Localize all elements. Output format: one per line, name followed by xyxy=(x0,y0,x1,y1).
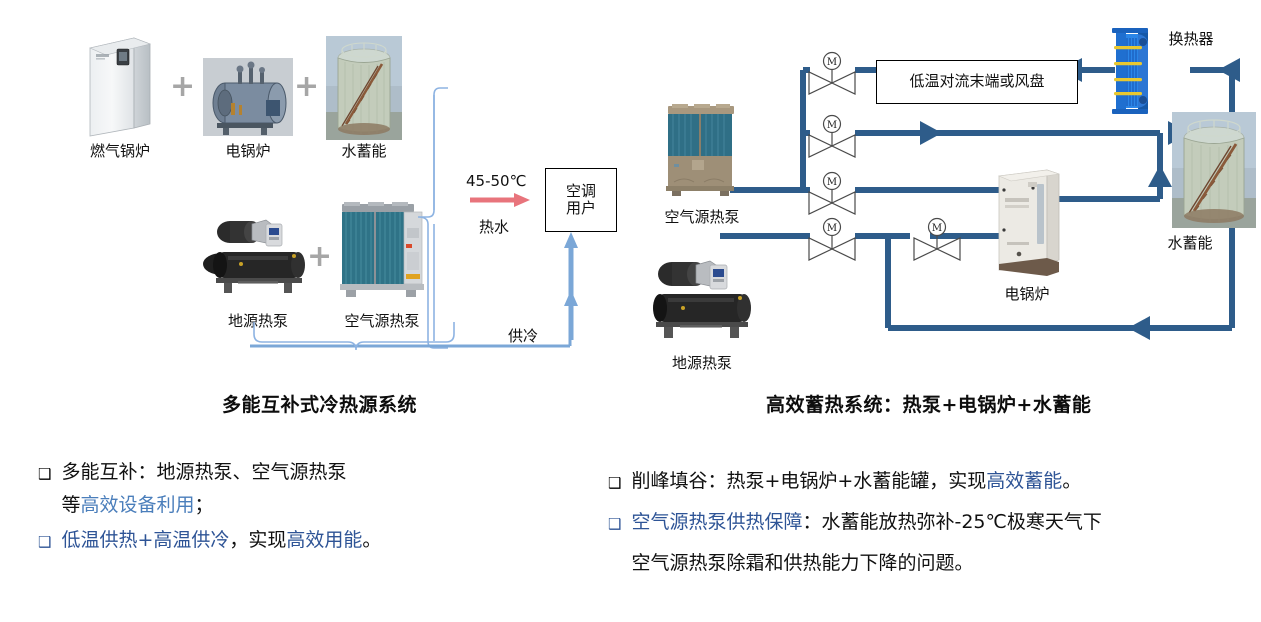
list-item: ❑ 空气源热泵供热保障：水蓄能放热弥补-25℃极寒天气下 空气源热泵除霜和供热能… xyxy=(608,513,1258,573)
left-panel-title: 多能互补式冷热源系统 xyxy=(222,390,417,417)
bullet-span: ； xyxy=(194,494,213,516)
bullet-span: 空气源热泵除霜和供热能力下降的问题。 xyxy=(631,552,973,574)
water-storage-tank-icon xyxy=(1172,112,1256,228)
gas-boiler-icon xyxy=(84,32,156,140)
bullet-line: 低温供热+高温供冷，实现高效用能。 xyxy=(61,531,381,550)
ac-user-line2: 用户 xyxy=(566,200,596,217)
valve-4[interactable]: M xyxy=(805,218,859,266)
bullet-line: 等高效设备利用； xyxy=(61,496,346,515)
bullet-span: ：水蓄能放热弥补-25℃极寒天气下 xyxy=(802,511,1101,533)
bullet-span: 高效设备利用 xyxy=(80,494,194,516)
valve-symbol-icon: M xyxy=(805,52,859,100)
valve-symbol-icon: M xyxy=(805,172,859,220)
ground-source-heat-pump-icon xyxy=(648,252,756,344)
electric-boiler-label: 电锅炉 xyxy=(203,140,293,161)
ground-source-heat-pump-equipment-right xyxy=(648,252,756,344)
right-bullet-list: ❑ 削峰填谷：热泵+电锅炉+水蓄能罐，实现高效蓄能。 ❑ 空气源热泵供热保障：水… xyxy=(608,472,1258,573)
list-item: ❑ 低温供热+高温供冷，实现高效用能。 xyxy=(38,531,558,550)
hot-water-arrow xyxy=(470,191,532,209)
ground-source-heat-pump-label-right: 地源热泵 xyxy=(652,352,752,373)
heating-source-bracket xyxy=(404,86,464,356)
gas-boiler-label: 燃气锅炉 xyxy=(84,140,156,161)
electric-boiler-label-right: 电锅炉 xyxy=(992,283,1062,304)
electric-boiler-icon xyxy=(203,58,293,136)
bullet-span: 空气源热泵供热保障 xyxy=(631,511,802,533)
valve-2[interactable]: M xyxy=(805,115,859,163)
cooling-arrow xyxy=(562,232,580,340)
air-source-heat-pump-icon xyxy=(664,104,740,196)
ac-user-line1: 空调 xyxy=(566,183,596,200)
bullet-span: ，实现 xyxy=(229,529,286,551)
hot-water-label: 热水 xyxy=(479,216,509,237)
bullet-span: 等 xyxy=(61,494,80,516)
bullet-line: 空气源热泵供热保障：水蓄能放热弥补-25℃极寒天气下 xyxy=(631,513,1101,532)
bullet-marker: ❑ xyxy=(38,535,51,550)
bullet-marker: ❑ xyxy=(608,517,621,532)
svg-text:M: M xyxy=(932,223,942,234)
plus-symbol-3: + xyxy=(307,242,332,272)
water-storage-label-right: 水蓄能 xyxy=(1150,232,1230,253)
heat-exchanger-label: 换热器 xyxy=(1160,28,1222,49)
right-panel-title: 高效蓄热系统：热泵+电锅炉+水蓄能 xyxy=(766,390,1091,417)
ground-source-heat-pump-equipment xyxy=(208,212,310,298)
electric-boiler-cabinet-icon xyxy=(995,168,1063,278)
plus-symbol-1: + xyxy=(170,72,195,102)
cooling-label: 供冷 xyxy=(508,325,538,346)
electric-boiler-equipment-right xyxy=(995,168,1063,278)
plate-heat-exchanger-icon xyxy=(1110,28,1152,114)
svg-text:M: M xyxy=(827,120,837,131)
left-bullet-list: ❑ 多能互补：地源热泵、空气源热泵 等高效设备利用； ❑ 低温供热+高温供冷，实… xyxy=(38,463,558,550)
water-storage-label: 水蓄能 xyxy=(326,140,402,161)
water-storage-tank-icon xyxy=(326,36,402,140)
bullet-marker: ❑ xyxy=(608,476,621,491)
bullet-line: 多能互补：地源热泵、空气源热泵 xyxy=(61,463,346,482)
valve-5[interactable]: M xyxy=(910,218,964,266)
valve-symbol-icon: M xyxy=(805,115,859,163)
valve-1[interactable]: M xyxy=(805,52,859,100)
terminal-box: 低温对流末端或风盘 xyxy=(876,60,1078,104)
valve-symbol-icon: M xyxy=(805,218,859,266)
valve-symbol-icon: M xyxy=(910,218,964,266)
bullet-span: 高效蓄能 xyxy=(986,470,1062,492)
supply-temperature-label: 45-50℃ xyxy=(466,172,526,190)
plus-symbol-2: + xyxy=(294,72,319,102)
cooling-source-bracket xyxy=(250,320,460,352)
svg-text:M: M xyxy=(827,223,837,234)
water-storage-equipment-right xyxy=(1172,112,1256,228)
bullet-span: 高效用能 xyxy=(286,529,362,551)
bullet-span: 削峰填谷：热泵+电锅炉+水蓄能罐，实现 xyxy=(631,470,986,492)
ground-source-heat-pump-icon xyxy=(208,212,310,298)
bullet-span: 。 xyxy=(362,529,381,551)
bullet-marker: ❑ xyxy=(38,467,51,482)
water-storage-equipment xyxy=(326,36,402,140)
svg-text:M: M xyxy=(827,177,837,188)
bullet-span: 。 xyxy=(1062,470,1081,492)
ac-user-box: 空调 用户 xyxy=(545,168,617,232)
bullet-line: 削峰填谷：热泵+电锅炉+水蓄能罐，实现高效蓄能。 xyxy=(631,472,1081,491)
electric-boiler-equipment xyxy=(203,58,293,136)
gas-boiler-equipment xyxy=(84,32,156,140)
list-item: ❑ 多能互补：地源热泵、空气源热泵 等高效设备利用； xyxy=(38,463,558,515)
air-source-heat-pump-label-right: 空气源热泵 xyxy=(650,206,754,227)
bullet-span: 多能互补：地源热泵、空气源热泵 xyxy=(61,461,346,483)
list-item: ❑ 削峰填谷：热泵+电锅炉+水蓄能罐，实现高效蓄能。 xyxy=(608,472,1258,491)
svg-text:M: M xyxy=(827,57,837,68)
heat-exchanger-equipment xyxy=(1110,28,1152,114)
bullet-line: 空气源热泵除霜和供热能力下降的问题。 xyxy=(631,554,1101,573)
valve-3[interactable]: M xyxy=(805,172,859,220)
air-source-heat-pump-equipment-right xyxy=(664,104,740,196)
bullet-span: 低温供热+高温供冷 xyxy=(61,529,229,551)
